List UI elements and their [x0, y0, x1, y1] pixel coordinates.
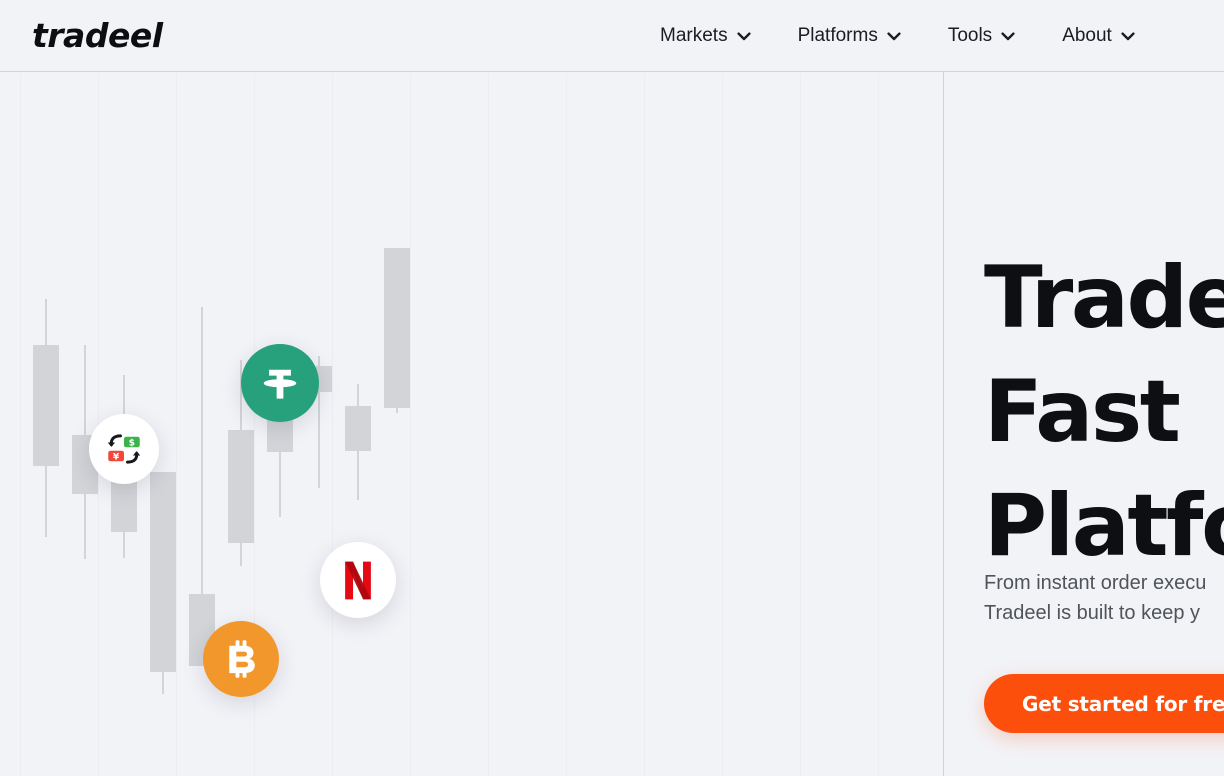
nav-item-about[interactable]: About — [1062, 24, 1135, 48]
candlestick — [384, 73, 410, 776]
chevron-down-icon — [1121, 32, 1135, 41]
candle-body — [33, 345, 59, 466]
candle-body — [345, 406, 371, 451]
candlestick — [345, 73, 371, 776]
hero-title: Trade Fast Platfo — [984, 241, 1224, 583]
chevron-down-icon — [737, 32, 751, 41]
candlestick — [72, 73, 98, 776]
nav-item-tools[interactable]: Tools — [948, 24, 1015, 48]
nav-item-platforms[interactable]: Platforms — [798, 24, 901, 48]
candle-body — [228, 430, 254, 543]
nav-item-label: Platforms — [798, 24, 878, 48]
chevron-down-icon — [1001, 32, 1015, 41]
site-header: tradeel Markets Platforms — [0, 0, 1224, 72]
chevron-down-icon — [887, 32, 901, 41]
nav-item-label: About — [1062, 24, 1112, 48]
bitcoin-icon[interactable] — [203, 621, 279, 697]
brand-logo[interactable]: tradeel — [32, 16, 163, 56]
hero-section: Trade Fast Platfo From instant order exe… — [944, 73, 1224, 776]
netflix-icon[interactable] — [320, 542, 396, 618]
page-root: tradeel Markets Platforms — [0, 0, 1224, 776]
tether-coin-icon[interactable] — [241, 344, 319, 422]
candlestick — [306, 73, 332, 776]
svg-text:$: $ — [129, 438, 135, 449]
nav-item-markets[interactable]: Markets — [660, 24, 751, 48]
main-nav: Markets Platforms Tools — [660, 0, 1135, 72]
svg-text:¥: ¥ — [113, 452, 120, 463]
candlestick — [33, 73, 59, 776]
candle-body — [384, 248, 410, 408]
nav-item-label: Tools — [948, 24, 992, 48]
candle-body — [150, 472, 176, 672]
get-started-button[interactable]: Get started for free — [984, 674, 1224, 733]
get-started-label: Get started for free — [1022, 692, 1224, 716]
hero-subtitle: From instant order execu Tradeel is buil… — [984, 568, 1224, 628]
nav-item-label: Markets — [660, 24, 728, 48]
candlestick — [150, 73, 176, 776]
candlestick-chart: $ ¥ — [0, 73, 943, 776]
currency-exchange-icon[interactable]: $ ¥ — [89, 414, 159, 484]
